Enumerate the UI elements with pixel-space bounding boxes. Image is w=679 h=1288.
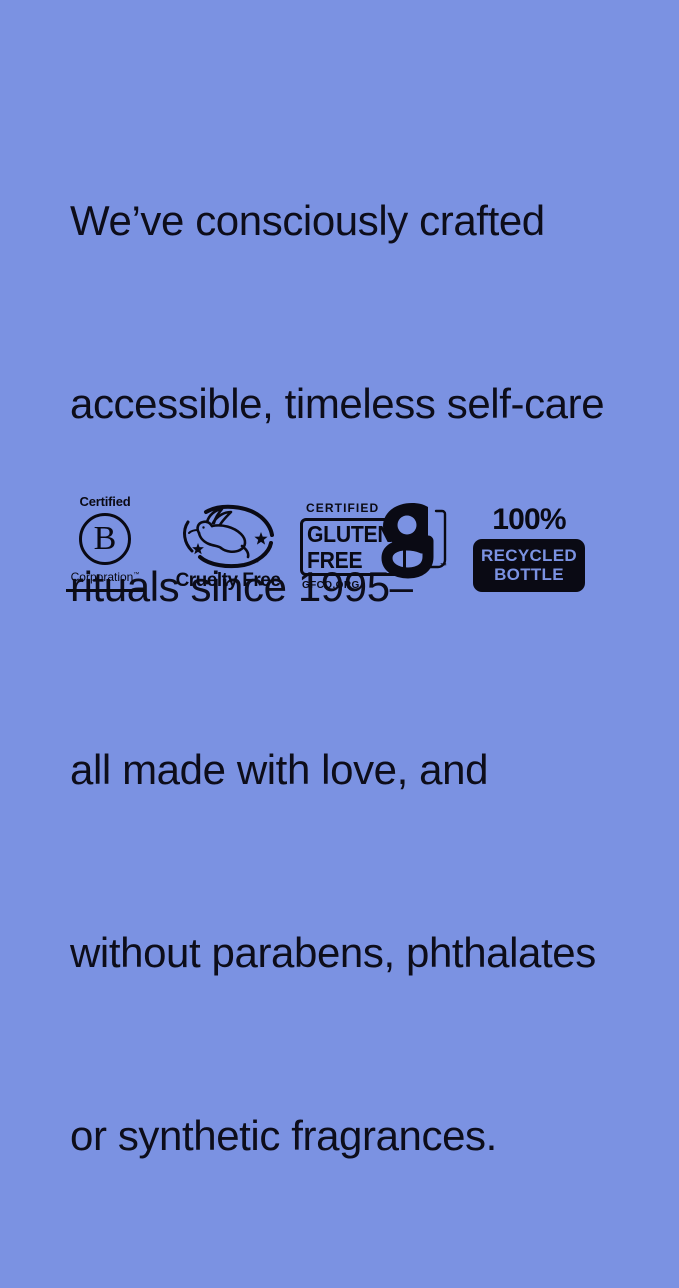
gluten-free-mark: CERTIFIED GLUTEN FREE — [300, 501, 450, 577]
gluten-free-trademark: ™ — [440, 563, 447, 570]
b-corp-corporation-text: Corporation — [71, 570, 134, 584]
recycled-bottle-line-2: BOTTLE — [479, 565, 579, 584]
b-corp-letter: B — [94, 522, 117, 556]
headline-text: We’ve consciously crafted accessible, ti… — [70, 68, 670, 1288]
b-corp-trademark: ™ — [133, 572, 139, 578]
recycled-bottle-box: RECYCLED BOTTLE — [473, 539, 585, 592]
headline-line-6: or synthetic fragrances. — [70, 1105, 670, 1166]
b-corp-certified-label: Certified — [64, 494, 146, 509]
certification-badge-row: Certified B Corporation™ — [0, 487, 679, 592]
gluten-free-certified-label: CERTIFIED — [306, 501, 379, 515]
svg-text:™: ™ — [252, 560, 259, 567]
recycled-bottle-line-1: RECYCLED — [479, 546, 579, 565]
leaping-bunny-icon: ™ — [176, 503, 280, 569]
badge-gluten-free: CERTIFIED GLUTEN FREE — [300, 501, 450, 592]
b-corp-corporation-label: Corporation™ — [71, 568, 140, 584]
headline-line-4: all made with love, and — [70, 739, 670, 800]
headline-line-1: We’ve consciously crafted — [70, 190, 670, 251]
badge-recycled-bottle: 100% RECYCLED BOTTLE — [473, 504, 585, 592]
b-corp-underline — [66, 589, 144, 592]
gluten-free-url-label: GFCO.ORG — [302, 580, 450, 592]
recycled-percent-label: 100% — [473, 504, 585, 536]
badge-b-corporation: Certified B Corporation™ — [64, 494, 146, 592]
badge-cruelty-free: ™ Cruelty Free — [172, 503, 284, 592]
headline-line-5: without parabens, phthalates — [70, 922, 670, 983]
headline-line-2: accessible, timeless self-care — [70, 373, 670, 434]
b-corp-logo-icon: B — [79, 513, 131, 565]
promo-poster: We’ve consciously crafted accessible, ti… — [0, 0, 679, 679]
cruelty-free-label: Cruelty Free — [172, 570, 284, 592]
